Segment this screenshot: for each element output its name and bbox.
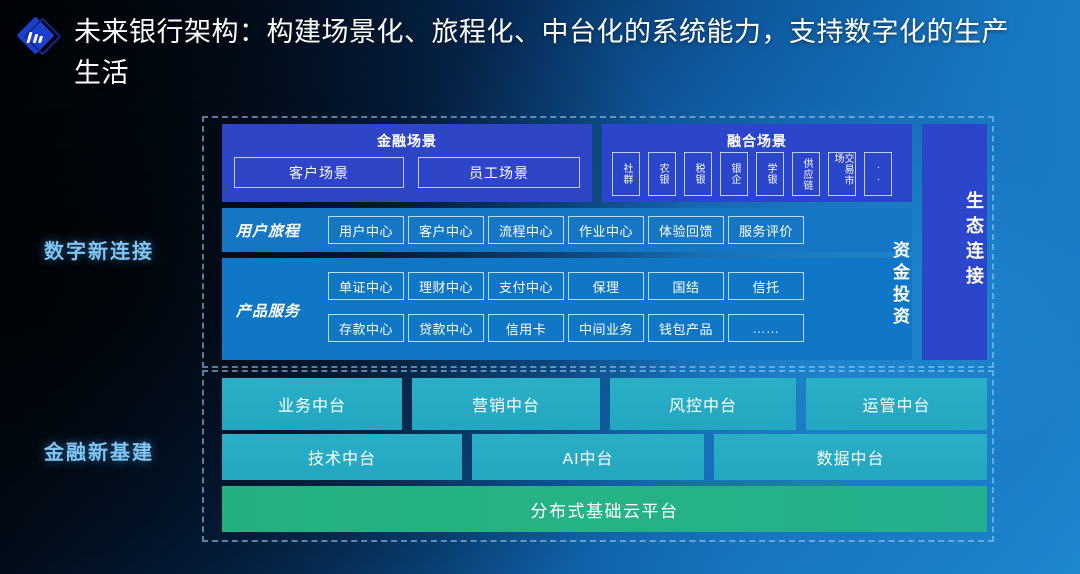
diamond-logo-icon [20,20,54,54]
mid-platform-business[interactable]: 业务中台 [222,378,402,430]
user-journey-panel: 用户旅程 用户中心 客户中心 流程中心 作业中心 体验回馈 服务评价 [222,208,912,252]
fusion-box-bank-corp[interactable]: 银企 [720,152,748,196]
product-chip-factoring[interactable]: 保理 [568,272,644,300]
journey-chip-service-review[interactable]: 服务评价 [728,216,804,244]
product-chip-wealth-center[interactable]: 理财中心 [408,272,484,300]
product-chip-wallet-product[interactable]: 钱包产品 [648,314,724,342]
journey-chip-operation-center[interactable]: 作业中心 [568,216,644,244]
ecosystem-connection-column[interactable]: 生态连接 [922,124,987,360]
fusion-box-agri-bank[interactable]: 农银 [648,152,676,196]
distributed-cloud-platform-bar[interactable]: 分布式基础云平台 [222,486,987,532]
upper-section: 金融场景 客户场景 员工场景 融合场景 社群 农银 税银 银企 学银 供应链 交… [222,124,987,360]
capital-investment-column[interactable]: 资金投资 [818,208,912,360]
fusion-box-tax-bank[interactable]: 税银 [684,152,712,196]
product-chip-intl-settlement[interactable]: 国结 [648,272,724,300]
logo-bars [27,31,45,45]
product-chip-deposit-center[interactable]: 存款中心 [328,314,404,342]
product-chip-more[interactable]: …… [728,314,804,342]
scene-box-customer[interactable]: 客户场景 [234,157,404,188]
side-label-digital-connection: 数字新连接 [44,235,154,264]
side-label-financial-infrastructure: 金融新基建 [44,436,154,465]
mid-platform-marketing[interactable]: 营销中台 [412,378,600,430]
financial-scene-title: 金融场景 [222,131,592,151]
fusion-scene-title: 融合场景 [602,131,912,151]
product-chip-document-center[interactable]: 单证中心 [328,272,404,300]
user-journey-label: 用户旅程 [236,220,300,241]
journey-chip-customer-center[interactable]: 客户中心 [408,216,484,244]
product-service-panel: 产品服务 单证中心 理财中心 支付中心 保理 国结 信托 存款中心 贷款中心 信… [222,258,912,360]
slide-canvas: 未来银行架构：构建场景化、旅程化、中台化的系统能力，支持数字化的生产生活 数字新… [0,0,1080,574]
fusion-box-community[interactable]: 社群 [612,152,640,196]
fusion-box-supply-chain[interactable]: 供应链 [792,152,820,196]
product-chip-credit-card[interactable]: 信用卡 [488,314,564,342]
fusion-scene-panel[interactable]: 融合场景 社群 农银 税银 银企 学银 供应链 交易市场 ·· [602,124,912,202]
product-chip-loan-center[interactable]: 贷款中心 [408,314,484,342]
mid-platform-ai[interactable]: AI中台 [472,434,704,480]
product-service-label: 产品服务 [236,300,300,321]
mid-platform-technology[interactable]: 技术中台 [222,434,462,480]
fusion-box-more[interactable]: ·· [864,152,892,196]
journey-chip-process-center[interactable]: 流程中心 [488,216,564,244]
product-chip-trust[interactable]: 信托 [728,272,804,300]
mid-platform-data[interactable]: 数据中台 [714,434,987,480]
fusion-box-edu-bank[interactable]: 学银 [756,152,784,196]
product-chip-intermediary[interactable]: 中间业务 [568,314,644,342]
lower-section: 业务中台 营销中台 风控中台 运管中台 技术中台 AI中台 数据中台 分布式基础… [222,378,987,532]
scene-box-employee[interactable]: 员工场景 [418,157,580,188]
financial-scene-panel[interactable]: 金融场景 客户场景 员工场景 [222,124,592,202]
capital-investment-label: 资金投资 [818,230,912,340]
fusion-box-trade-market[interactable]: 交易市场 [828,152,856,196]
product-chip-payment-center[interactable]: 支付中心 [488,272,564,300]
mid-platform-risk[interactable]: 风控中台 [610,378,796,430]
ecosystem-connection-label: 生态连接 [922,176,987,306]
page-title: 未来银行架构：构建场景化、旅程化、中台化的系统能力，支持数字化的生产生活 [74,12,1014,94]
mid-platform-operations[interactable]: 运管中台 [806,378,987,430]
journey-chip-user-center[interactable]: 用户中心 [328,216,404,244]
journey-chip-experience-feedback[interactable]: 体验回馈 [648,216,724,244]
slide-header: 未来银行架构：构建场景化、旅程化、中台化的系统能力，支持数字化的生产生活 [0,0,1080,104]
